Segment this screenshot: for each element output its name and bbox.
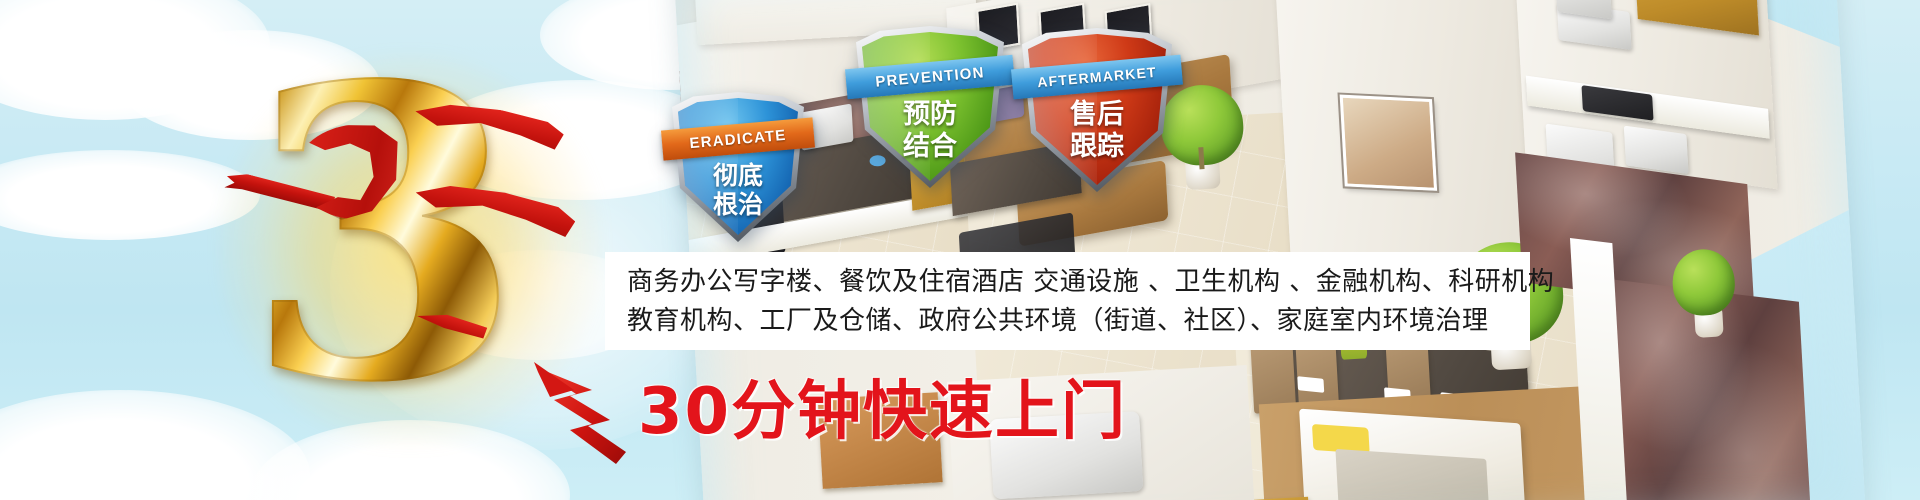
- shield-chinese-line-2: 跟踪: [1022, 132, 1172, 161]
- service-scope-line-1: 商务办公写字楼、餐饮及住宿酒店 交通设施 、卫生机构 、金融机构、科研机构: [627, 263, 1512, 302]
- shield-chinese-line-2: 结合: [856, 132, 1004, 161]
- shield-english-label: PREVENTION: [875, 64, 986, 90]
- shield-chinese-line-1: 预防: [856, 100, 1004, 129]
- shield-chinese-line-2: 根治: [672, 191, 804, 218]
- shield-chinese-line-1: 售后: [1022, 100, 1172, 129]
- promo-banner: 3 ERADICATE 彻底 根治: [0, 0, 1920, 500]
- shield-chinese-line-1: 彻底: [672, 162, 804, 189]
- service-scope-textbox: 商务办公写字楼、餐饮及住宿酒店 交通设施 、卫生机构 、金融机构、科研机构 教育…: [605, 252, 1530, 350]
- shield-prevention: PREVENTION 预防 结合: [856, 26, 1004, 188]
- shield-english-label: AFTERMARKET: [1037, 64, 1158, 90]
- shield-english-label: ERADICATE: [689, 126, 787, 151]
- shield-eradicate: ERADICATE 彻底 根治: [672, 92, 804, 242]
- golden-number-three: 3: [245, 70, 575, 430]
- shield-aftermarket: AFTERMARKET 售后 跟踪: [1022, 28, 1172, 192]
- service-scope-line-2: 教育机构、工厂及仓储、政府公共环境（街道、社区）、家庭室内环境治理: [627, 302, 1512, 341]
- framed-painting: [1340, 95, 1438, 191]
- headline-text: 30分钟快速上门: [638, 360, 1127, 452]
- tableware: [1297, 376, 1324, 393]
